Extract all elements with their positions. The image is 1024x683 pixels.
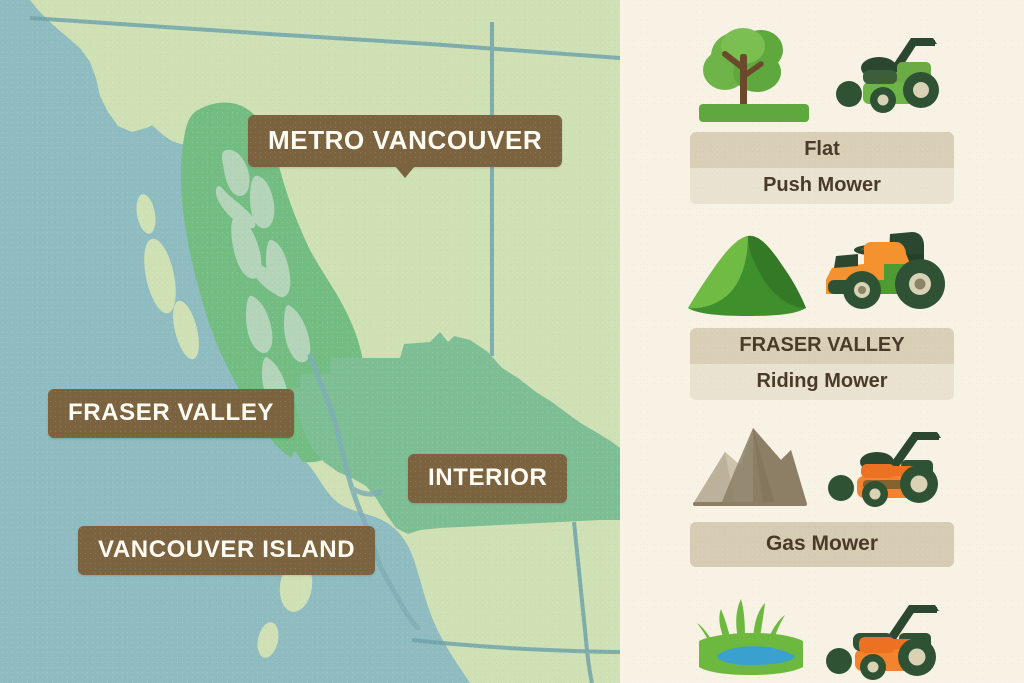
legend-item[interactable]: FRASER VALLEY Riding Mower bbox=[620, 210, 1024, 400]
legend-item-label-block: Flat Push Mower bbox=[690, 132, 954, 204]
legend-item-icons bbox=[686, 404, 958, 514]
legend-item-icons bbox=[686, 575, 958, 683]
legend-item-line1-text: Gas Mower bbox=[766, 532, 878, 555]
map-panel: METRO VANCOUVER FRASER VALLEY INTERIOR V… bbox=[0, 0, 620, 683]
map-label-text: FRASER VALLEY bbox=[68, 399, 274, 426]
legend-item[interactable]: Gas Mower bbox=[620, 404, 1024, 567]
green-push-mower-icon bbox=[817, 20, 949, 124]
legend-item-line1-text: Flat bbox=[804, 138, 840, 160]
map-label-text: INTERIOR bbox=[428, 464, 547, 491]
map-label-fraser-valley[interactable]: FRASER VALLEY bbox=[48, 389, 294, 438]
legend-item-icons bbox=[686, 14, 958, 124]
mower-recommendation-list: Flat Push Mower bbox=[620, 0, 1024, 683]
map-label-interior[interactable]: INTERIOR bbox=[408, 454, 567, 503]
legend-item-icons bbox=[686, 210, 958, 320]
orange-riding-mower-icon bbox=[812, 224, 958, 320]
legend-item[interactable]: Flat Push Mower bbox=[620, 14, 1024, 204]
map-illustration bbox=[0, 0, 620, 683]
legend-item-line2-text: Riding Mower bbox=[756, 370, 887, 392]
legend-item-line2-text: Push Mower bbox=[763, 174, 881, 196]
legend-item[interactable]: Electric Mower bbox=[620, 575, 1024, 683]
rolling-hill-icon bbox=[686, 224, 808, 320]
legend-item-label-block: FRASER VALLEY Riding Mower bbox=[690, 328, 954, 400]
orange-gas-mower-icon bbox=[813, 418, 953, 514]
legend-panel: Flat Push Mower bbox=[620, 0, 1024, 683]
infographic-root: METRO VANCOUVER FRASER VALLEY INTERIOR V… bbox=[0, 0, 1024, 683]
grass-water-icon bbox=[691, 595, 809, 683]
legend-item-line1: FRASER VALLEY bbox=[690, 328, 954, 364]
legend-item-line2: Riding Mower bbox=[690, 364, 954, 400]
map-label-text: VANCOUVER ISLAND bbox=[98, 536, 355, 563]
legend-item-line1: Gas Mower bbox=[690, 522, 954, 567]
map-label-vancouver-island[interactable]: VANCOUVER ISLAND bbox=[78, 526, 375, 575]
legend-item-line2: Push Mower bbox=[690, 168, 954, 204]
legend-item-line1: Flat bbox=[690, 132, 954, 168]
map-label-metro-vancouver[interactable]: METRO VANCOUVER bbox=[248, 115, 562, 167]
map-label-text: METRO VANCOUVER bbox=[268, 125, 542, 155]
flat-tree-lawn-icon bbox=[695, 20, 813, 124]
mountain-icon bbox=[691, 418, 809, 514]
orange-electric-mower-icon bbox=[813, 595, 953, 683]
legend-item-line1-text: FRASER VALLEY bbox=[739, 334, 904, 356]
legend-item-label-block: Gas Mower bbox=[690, 522, 954, 567]
